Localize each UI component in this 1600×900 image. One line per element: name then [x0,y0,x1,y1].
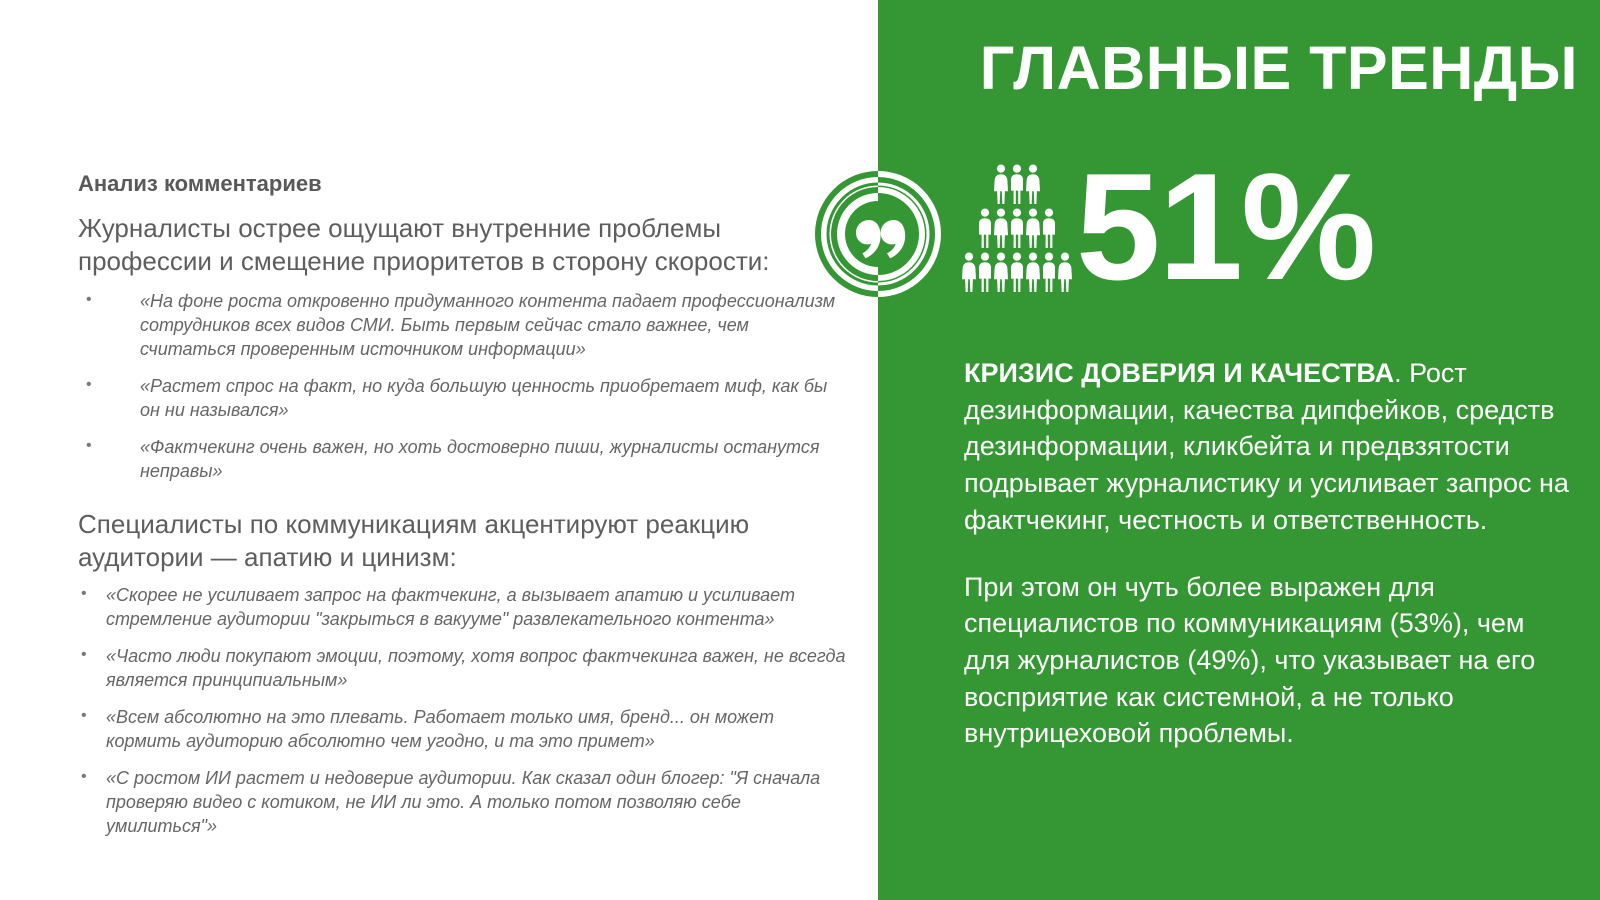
panel-secondary-paragraph: При этом он чуть более выражен для специ… [964,569,1574,753]
analysis-kicker: Анализ комментариев [78,170,848,198]
list-item: «Растет спрос на факт, но куда большую ц… [78,375,848,423]
list-item: «На фоне роста откровенно придуманного к… [78,290,848,362]
journalists-quote-list: «На фоне роста откровенно придуманного к… [78,290,848,484]
list-item: «Фактчекинг очень важен, но хоть достове… [78,436,848,484]
slide-root: ГЛАВНЫЕ ТРЕНДЫ [0,0,1600,900]
panel-title: ГЛАВНЫЕ ТРЕНДЫ [878,36,1578,100]
journalists-lead: Журналисты острее ощущают внутренние про… [78,212,848,279]
list-item: «Скорее не усиливает запрос на фактчекин… [78,584,848,632]
green-panel: ГЛАВНЫЕ ТРЕНДЫ [878,0,1600,900]
communicators-quote-list: «Скорее не усиливает запрос на фактчекин… [78,584,848,838]
list-item: «Всем абсолютно на это плевать. Работает… [78,706,848,754]
panel-headline-emphasis: КРИЗИС ДОВЕРИЯ И КАЧЕСТВА [964,358,1394,388]
communicators-lead: Специалисты по коммуникациям акцентируют… [78,508,848,575]
panel-headline-paragraph: КРИЗИС ДОВЕРИЯ И КАЧЕСТВА. Рост дезинфор… [964,355,1574,539]
stat-percentage: 51% [1076,158,1374,298]
list-item: «С ростом ИИ растет и недоверие аудитори… [78,767,848,839]
left-column: Анализ комментариев Журналисты острее ощ… [78,170,848,852]
stat-row: 51% [962,158,1374,298]
people-pyramid-icon [962,164,1072,292]
list-item: «Часто люди покупают эмоции, поэтому, хо… [78,645,848,693]
panel-body: КРИЗИС ДОВЕРИЯ И КАЧЕСТВА. Рост дезинфор… [964,355,1574,752]
